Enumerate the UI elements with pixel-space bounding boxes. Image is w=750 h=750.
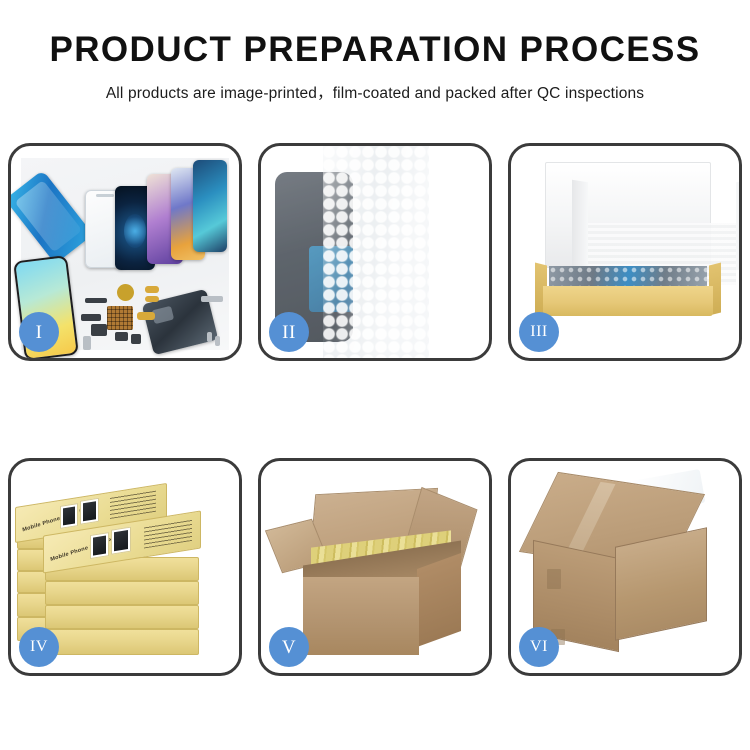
box-window-a1 [60,503,78,529]
box-spec-lines-2 [144,518,192,549]
screw-part-a [207,332,212,342]
step-card-3: III [508,143,742,361]
earpiece-mesh-part [85,298,107,303]
carton-side-right [417,553,461,647]
box-window-b1 [90,532,109,559]
connector-part-a [81,314,101,321]
step-card-6: VI [508,458,742,676]
box-window-b2 [111,527,131,555]
inner-box-front [543,286,713,316]
step-badge-1: I [19,312,59,352]
page-subtitle: All products are image-printed，film-coat… [0,81,750,103]
step-badge-2: II [269,312,309,352]
page-title: PRODUCT PREPARATION PROCESS [0,32,750,69]
process-steps-grid: I II [8,143,742,676]
stack-box-right-4 [45,629,199,655]
sealed-carton-right [615,527,707,641]
box-spec-lines-1 [110,490,156,519]
chip-grid-part [107,306,133,330]
step-card-2: II [258,143,492,361]
step-badge-5: V [269,627,309,667]
step-card-1: I [8,143,242,361]
lid-flap-left [572,180,588,271]
lid-flap-right [736,180,739,271]
connector-part-b [91,324,107,336]
step-badge-4: IV [19,627,59,667]
carton-front-face [303,577,419,655]
camera-module-part [115,332,128,341]
carton-handle-patch-top [547,569,561,589]
stack-box-right-3 [45,605,199,629]
page-header: PRODUCT PREPARATION PROCESS All products… [0,0,750,103]
step-badge-3: III [519,312,559,352]
flex-cable-part-c [137,312,155,320]
step-badge-6: VI [519,627,559,667]
product-preparation-page: PRODUCT PREPARATION PROCESS All products… [0,0,750,750]
stack-box-right-2 [45,581,199,605]
film-gloss-highlight [323,146,429,358]
step-card-4: Mobile Phone Spare Parts Mobile Phone Sp… [8,458,242,676]
speaker-part [131,334,141,344]
inner-box-lid [545,162,711,268]
flex-cable-part-b [145,296,159,302]
step-card-5: V [258,458,492,676]
box-window-a2 [80,498,99,525]
battery-connector-part [83,336,91,350]
gold-coil-part [117,284,134,301]
screw-part-b [215,336,220,346]
tool-part [201,296,223,302]
flex-cable-part-a [145,286,159,293]
teal-phone-screen [193,160,227,252]
